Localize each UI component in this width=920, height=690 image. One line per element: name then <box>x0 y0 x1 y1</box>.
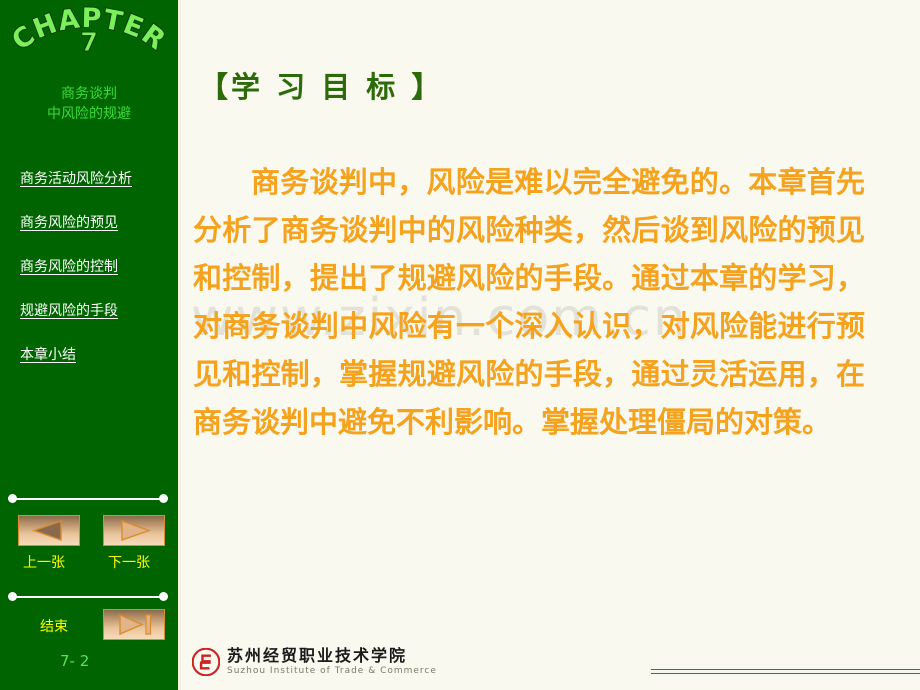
institution-name-en: Suzhou Institute of Trade & Commerce <box>227 667 437 676</box>
sidebar-divider-bottom <box>8 592 168 602</box>
end-show-button[interactable] <box>103 609 165 640</box>
sidebar-nav: 商务活动风险分析 商务风险的预见 商务风险的控制 规避风险的手段 本章小结 <box>0 168 178 364</box>
skip-to-end-icon <box>104 610 164 639</box>
presentation-slide: CHAPTER 7 商务谈判 中风险的规避 商务活动风险分析 商务风险的预见 商… <box>0 0 920 690</box>
arrow-right-icon <box>104 516 164 545</box>
chapter-subtitle-line2: 中风险的规避 <box>0 104 178 124</box>
page-title: 【学 习 目 标 】 <box>199 64 443 106</box>
sidebar-item-risk-control[interactable]: 商务风险的控制 <box>0 256 178 276</box>
slide-content-area: www.zixin.com.cn 【学 习 目 标 】 商务谈判中，风险是难以完… <box>181 0 920 690</box>
objective-body-text: 商务谈判中，风险是难以完全避免的。本章首先分析了商务谈判中的风险种类，然后谈到风… <box>193 158 865 446</box>
institution-emblem-icon <box>192 648 220 676</box>
sidebar-item-risk-foresight[interactable]: 商务风险的预见 <box>0 212 178 232</box>
next-slide-label[interactable]: 下一张 <box>108 552 150 572</box>
divider-dot-right <box>159 592 168 601</box>
divider-bar <box>13 596 163 598</box>
arrow-left-icon <box>19 516 79 545</box>
sidebar-divider-top <box>8 494 168 504</box>
chapter-subtitle-line1: 商务谈判 <box>0 84 178 104</box>
institution-logo: 苏州经贸职业技术学院 Suzhou Institute of Trade & C… <box>192 648 437 676</box>
slide-number: 7- 2 <box>60 652 89 670</box>
sidebar-item-risk-avoidance-means[interactable]: 规避风险的手段 <box>0 300 178 320</box>
institution-logo-text: 苏州经贸职业技术学院 Suzhou Institute of Trade & C… <box>227 648 437 676</box>
next-slide-button[interactable] <box>103 515 165 546</box>
decorative-horizontal-rule <box>651 669 920 674</box>
previous-slide-label[interactable]: 上一张 <box>23 552 65 572</box>
divider-dot-right <box>159 494 168 503</box>
previous-slide-button[interactable] <box>18 515 80 546</box>
divider-bar <box>13 498 163 500</box>
institution-name-cn: 苏州经贸职业技术学院 <box>227 648 437 664</box>
chapter-number: 7 <box>0 28 178 58</box>
sidebar-item-chapter-summary[interactable]: 本章小结 <box>0 344 178 364</box>
sidebar-panel: CHAPTER 7 商务谈判 中风险的规避 商务活动风险分析 商务风险的预见 商… <box>0 0 178 690</box>
end-show-label[interactable]: 结束 <box>40 616 68 636</box>
sidebar-item-risk-analysis[interactable]: 商务活动风险分析 <box>0 168 178 188</box>
chapter-subtitle: 商务谈判 中风险的规避 <box>0 84 178 124</box>
